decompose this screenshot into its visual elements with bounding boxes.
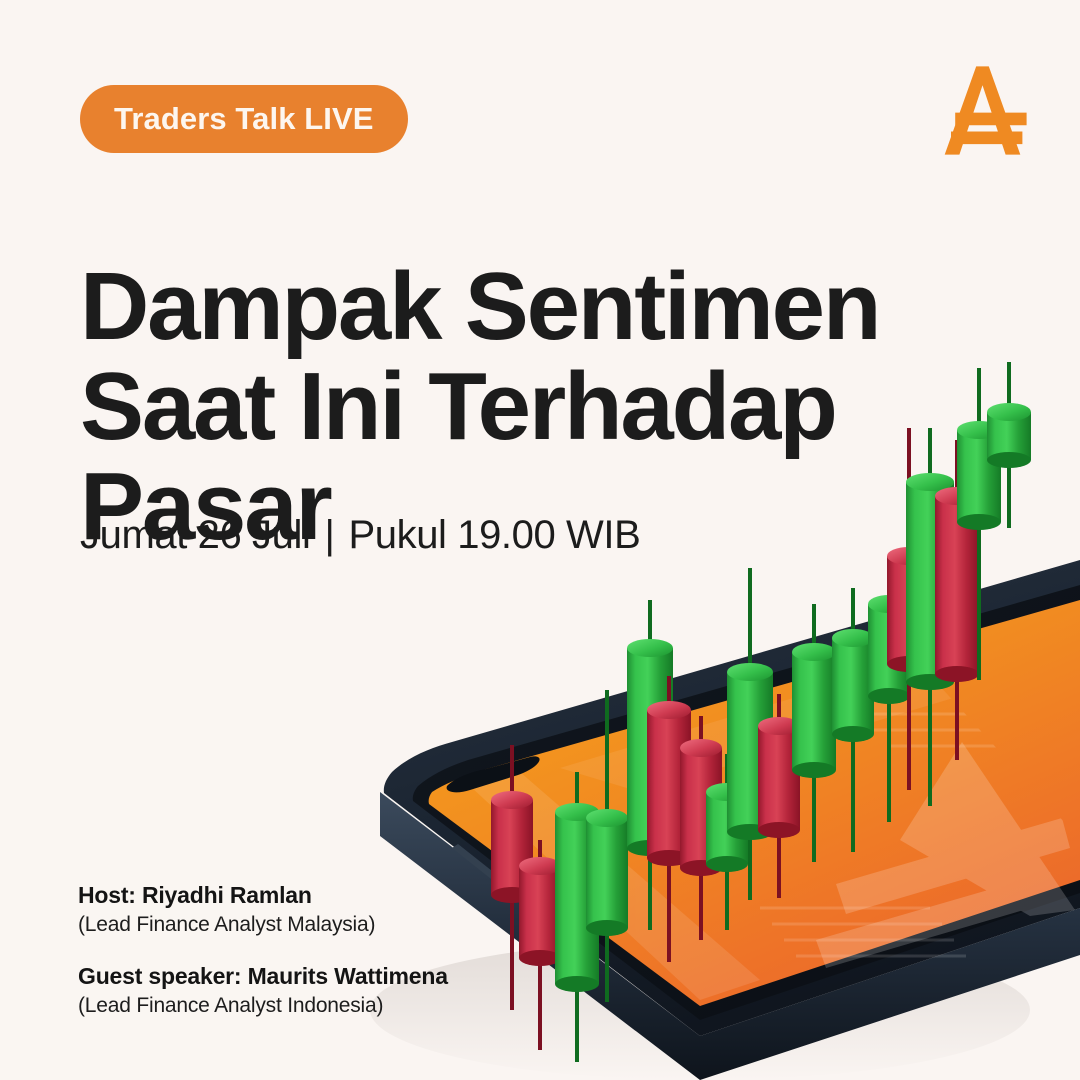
phone-shadow — [370, 940, 1030, 1080]
candle-green-9 — [727, 568, 773, 900]
candle-green-12 — [832, 588, 874, 852]
candle-red-16 — [935, 440, 979, 760]
candle-green-17 — [957, 368, 1001, 680]
candle-green-13 — [868, 556, 910, 822]
live-badge: Traders Talk LIVE — [80, 85, 408, 153]
screen-line-pattern — [760, 714, 1038, 956]
candle-red-1 — [491, 745, 533, 1010]
phone-bezel — [413, 585, 1080, 1020]
guest-speaker-name: Guest speaker: Maurits Wattimena — [78, 963, 448, 990]
guest-speaker-role: (Lead Finance Analyst Indonesia) — [78, 994, 448, 1018]
candle-red-6 — [647, 676, 691, 962]
headline-line-1: Dampak Sentimen — [80, 257, 840, 357]
candle-green-11 — [792, 604, 836, 862]
credit-guest-speaker: Guest speaker: Maurits Wattimena (Lead F… — [78, 963, 448, 1018]
host-role: (Lead Finance Analyst Malaysia) — [78, 913, 448, 937]
candle-green-5 — [627, 600, 673, 930]
phone-screen — [429, 600, 1080, 1006]
brand-a-logo-icon — [930, 58, 1035, 163]
screen-watermark-logo — [816, 742, 1075, 968]
poster-canvas: Traders Talk LIVE Dampak Sentimen Saat I… — [0, 0, 1080, 1080]
host-name: Host: Riyadhi Ramlan — [78, 882, 448, 909]
candle-green-3 — [555, 772, 599, 1062]
candle-green-8 — [706, 754, 748, 930]
candle-green-18 — [987, 362, 1031, 528]
speaker-credits: Host: Riyadhi Ramlan (Lead Finance Analy… — [78, 882, 448, 1018]
candle-red-14 — [887, 428, 931, 790]
screen-glare — [470, 772, 760, 1000]
headline-line-2: Saat Ini Terhadap — [80, 357, 840, 457]
phone-side — [380, 792, 1080, 1080]
event-date: Jumat 26 Juli — [80, 513, 310, 558]
screen-glare-2 — [560, 612, 1080, 792]
event-datetime: Jumat 26 Juli | Pukul 19.00 WIB — [80, 513, 640, 558]
credit-host: Host: Riyadhi Ramlan (Lead Finance Analy… — [78, 882, 448, 937]
candle-green-15 — [906, 428, 954, 806]
candle-red-10 — [758, 694, 800, 898]
event-time: Pukul 19.00 WIB — [348, 513, 640, 558]
page-title: Dampak Sentimen Saat Ini Terhadap Pasar — [80, 257, 840, 556]
candle-green-4 — [586, 690, 628, 1002]
phone-body — [384, 560, 1080, 1036]
phone-side-button — [452, 844, 506, 886]
datetime-separator: | — [324, 513, 334, 558]
candle-red-2 — [519, 840, 561, 1050]
phone-notch — [447, 756, 540, 792]
candle-red-7 — [680, 716, 722, 940]
live-badge-label: Traders Talk LIVE — [114, 101, 374, 137]
